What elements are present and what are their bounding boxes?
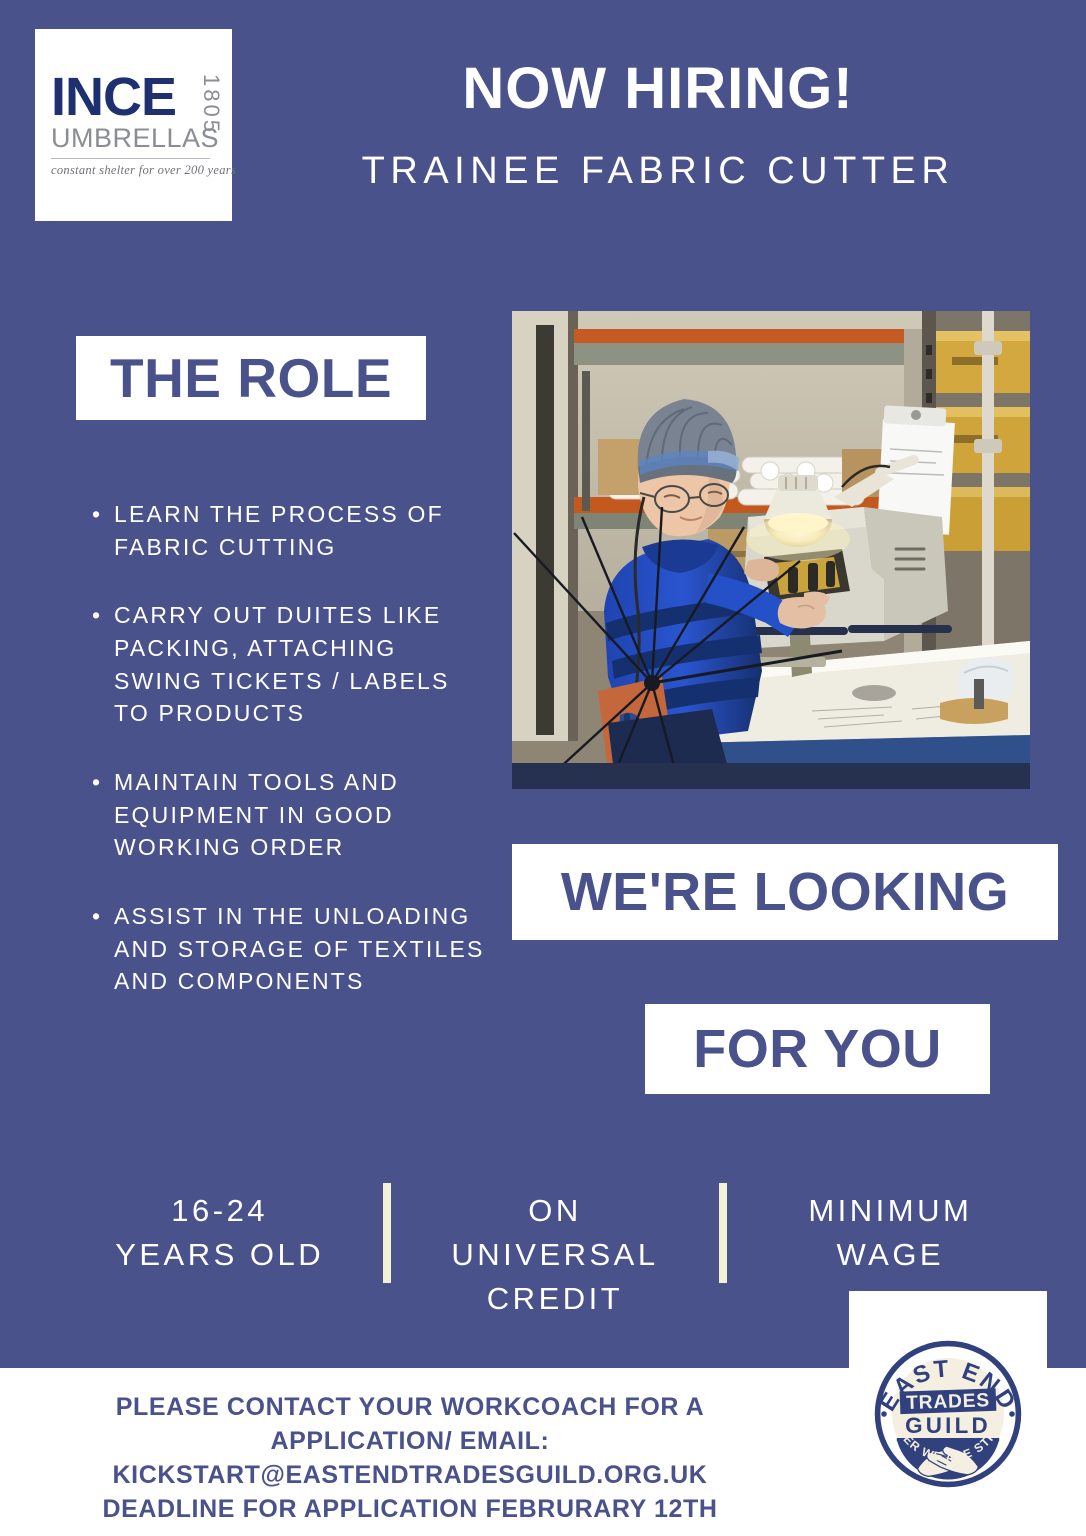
role-bullet-list: • LEARN THE PROCESS OF FABRIC CUTTING • … xyxy=(92,498,492,1034)
logo-brand-name: INCE xyxy=(51,72,176,123)
looking-banner-line2: FOR YOU xyxy=(645,1004,990,1094)
company-logo: 1805 INCE UMBRELLAS constant shelter for… xyxy=(35,29,232,221)
logo-tagline: constant shelter for over 200 years xyxy=(51,163,236,178)
looking-label-1: WE'RE LOOKING xyxy=(561,865,1009,919)
logo-year: 1805 xyxy=(200,74,222,135)
guild-banner-text: TRADES xyxy=(906,1390,990,1414)
criterion-wage-line1: MINIMUM xyxy=(731,1189,1050,1233)
criterion-wage-line2: WAGE xyxy=(731,1233,1050,1277)
criterion-age: 16-24 YEARS OLD xyxy=(60,1175,379,1277)
list-item-text: CARRY OUT DUITES LIKE PACKING, ATTACHING… xyxy=(114,599,492,730)
criterion-age-line1: 16-24 xyxy=(60,1189,379,1233)
job-title: TRAINEE FABRIC CUTTER xyxy=(258,152,1058,190)
contact-email[interactable]: KICKSTART@EASTENDTRADESGUILD.ORG.UK xyxy=(0,1458,820,1492)
list-item-text: LEARN THE PROCESS OF FABRIC CUTTING xyxy=(114,498,492,563)
criterion-universal-credit: ON UNIVERSAL CREDIT xyxy=(395,1175,714,1321)
criteria-divider xyxy=(719,1183,727,1283)
workplace-photo: PFAFF xyxy=(512,311,1030,789)
criterion-uc-line1: ON xyxy=(395,1189,714,1233)
criterion-uc-line3: CREDIT xyxy=(395,1277,714,1321)
list-item: • CARRY OUT DUITES LIKE PACKING, ATTACHI… xyxy=(92,599,492,730)
looking-banner-line1: WE'RE LOOKING xyxy=(512,844,1058,940)
criteria-divider xyxy=(383,1183,391,1283)
bullet-icon: • xyxy=(92,599,114,730)
contact-details: PLEASE CONTACT YOUR WORKCOACH FOR A APPL… xyxy=(0,1390,820,1526)
eligibility-criteria: 16-24 YEARS OLD ON UNIVERSAL CREDIT MINI… xyxy=(60,1175,1050,1305)
the-role-banner: THE ROLE xyxy=(76,336,426,420)
list-item: • LEARN THE PROCESS OF FABRIC CUTTING xyxy=(92,498,492,563)
headline: NOW HIRING! xyxy=(258,60,1058,118)
bullet-icon: • xyxy=(92,498,114,563)
criterion-wage: MINIMUM WAGE xyxy=(731,1175,1050,1277)
guild-mid-text: GUILD xyxy=(905,1413,991,1438)
the-role-label: THE ROLE xyxy=(110,351,392,406)
job-poster: 1805 INCE UMBRELLAS constant shelter for… xyxy=(0,0,1086,1536)
east-end-trades-guild-logo: EAST END TRADES GUILD TOGETHER WE ARE ST… xyxy=(849,1291,1047,1536)
criterion-age-line2: YEARS OLD xyxy=(60,1233,379,1277)
bullet-icon: • xyxy=(92,900,114,998)
bullet-icon: • xyxy=(92,766,114,864)
guild-logo-mark: EAST END TRADES GUILD TOGETHER WE ARE ST… xyxy=(868,1334,1028,1494)
workplace-photo-illustration: PFAFF xyxy=(512,311,1030,789)
logo-brand-subtitle: UMBRELLAS xyxy=(51,124,219,152)
criterion-uc-line2: UNIVERSAL xyxy=(395,1233,714,1277)
logo-divider xyxy=(51,158,210,159)
list-item-text: MAINTAIN TOOLS AND EQUIPMENT IN GOOD WOR… xyxy=(114,766,492,864)
list-item: • ASSIST IN THE UNLOADING AND STORAGE OF… xyxy=(92,900,492,998)
contact-line-1: PLEASE CONTACT YOUR WORKCOACH FOR A xyxy=(0,1390,820,1424)
looking-label-2: FOR YOU xyxy=(693,1022,942,1076)
list-item-text: ASSIST IN THE UNLOADING AND STORAGE OF T… xyxy=(114,900,492,998)
contact-line-2: APPLICATION/ EMAIL: xyxy=(0,1424,820,1458)
deadline-line: DEADLINE FOR APPLICATION FEBRURARY 12TH xyxy=(0,1492,820,1526)
list-item: • MAINTAIN TOOLS AND EQUIPMENT IN GOOD W… xyxy=(92,766,492,864)
